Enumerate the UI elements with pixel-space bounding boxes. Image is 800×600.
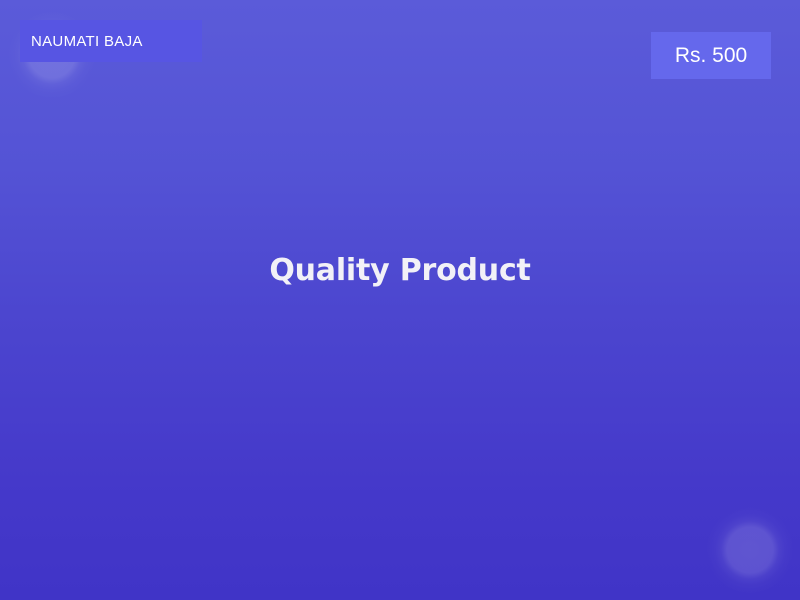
decorative-circle-bottom-right-icon [706,506,794,594]
price-badge-label: Rs. 500 [675,45,747,66]
brand-badge[interactable]: NAUMATI BAJA [20,20,202,62]
headline-container: Quality Product [0,252,800,290]
page-title: Quality Product [269,252,530,290]
brand-badge-label: NAUMATI BAJA [31,34,143,49]
price-badge[interactable]: Rs. 500 [651,32,771,79]
product-card: NAUMATI BAJA Rs. 500 Quality Product [0,0,800,600]
